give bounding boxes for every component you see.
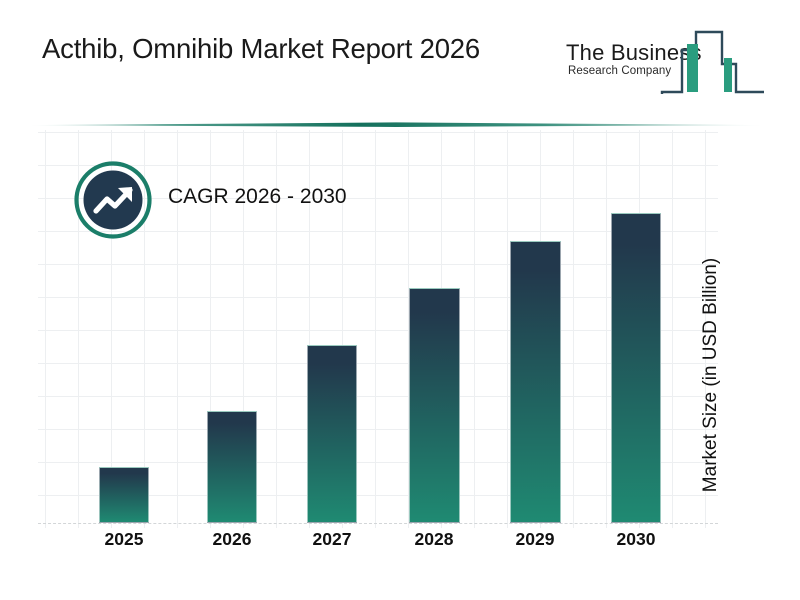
y-axis-title: Market Size (in USD Billion) <box>700 0 730 225</box>
chart-baseline <box>38 523 718 524</box>
header-divider <box>30 118 762 130</box>
logo-name-line2: Research Company <box>568 65 671 77</box>
x-tick-2029: 2029 <box>490 529 580 550</box>
bar-2029 <box>510 241 561 523</box>
x-tick-2027: 2027 <box>287 529 377 550</box>
bar-2030 <box>611 213 661 523</box>
company-logo: The Business Research Company <box>566 24 766 102</box>
bar-2026 <box>207 411 257 523</box>
x-axis-tick-labels: 2025 2026 2027 2028 2029 2030 <box>38 529 718 563</box>
bar-2025 <box>99 467 149 523</box>
bar-2028 <box>409 288 460 523</box>
x-tick-2025: 2025 <box>79 529 169 550</box>
x-tick-2026: 2026 <box>187 529 277 550</box>
x-tick-2030: 2030 <box>591 529 681 550</box>
chart-page: Acthib, Omnihib Market Report 2026 The B… <box>0 0 800 600</box>
page-title: Acthib, Omnihib Market Report 2026 <box>42 33 480 65</box>
y-axis-title-text: Market Size (in USD Billion) <box>700 225 722 525</box>
cagr-label: CAGR 2026 - 2030 <box>168 185 347 209</box>
cagr-annotation: CAGR 2026 - 2030 <box>74 161 394 241</box>
header: Acthib, Omnihib Market Report 2026 The B… <box>0 0 800 112</box>
bar-2027 <box>307 345 357 523</box>
trending-up-arrow-icon <box>74 161 152 239</box>
x-tick-2028: 2028 <box>389 529 479 550</box>
